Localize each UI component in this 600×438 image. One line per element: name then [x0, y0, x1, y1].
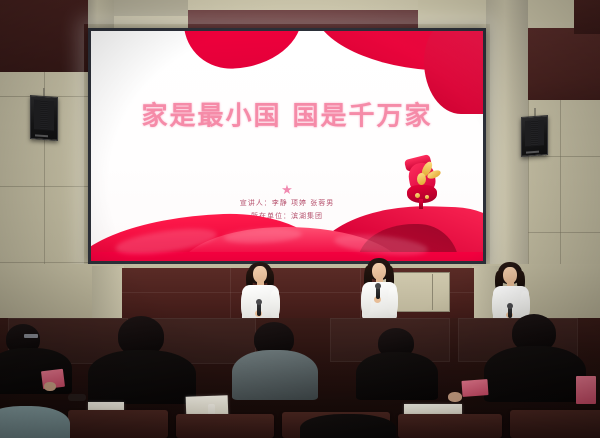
eyeglasses — [24, 334, 38, 338]
ornament-gold-detail — [415, 193, 420, 198]
audience-member-shoulders — [88, 350, 196, 404]
presenter-arm — [361, 287, 371, 315]
microphone-head — [375, 283, 381, 289]
stage-pillar-left — [92, 266, 124, 324]
audience-member-shoulders — [484, 346, 586, 402]
audience-hand — [448, 392, 462, 402]
bench-back — [176, 414, 274, 438]
presenter-arm — [241, 290, 251, 318]
red-card — [461, 379, 488, 397]
ornament-gold-detail — [425, 195, 429, 199]
microphone-head — [256, 299, 262, 305]
ornament-gold-detail — [417, 173, 426, 185]
ceiling-strip-left — [108, 0, 188, 16]
wall-speaker-right — [521, 115, 548, 157]
bench-back — [510, 410, 600, 438]
speaker-brand-mark — [526, 151, 539, 154]
presenter-arm — [270, 290, 280, 318]
audience-hand — [44, 382, 56, 391]
stage-door-seam — [432, 274, 433, 310]
speaker-grille — [525, 119, 544, 146]
speaker-grille — [34, 99, 54, 130]
audience-member-front — [0, 406, 70, 438]
red-card — [576, 376, 596, 404]
audience-member-shoulders — [356, 352, 438, 400]
audience-member-shoulders — [232, 350, 318, 400]
presenter-arm — [492, 291, 502, 319]
wall-speaker-left — [30, 95, 58, 141]
speaker-brand-mark — [35, 134, 48, 137]
microphone-head — [507, 303, 513, 309]
bench-back — [398, 414, 502, 438]
red-star-icon: ★ — [281, 183, 293, 196]
presentation-slide: 家是最小国 国是千万家 ★ 宣讲人：李静 项婷 张蓉男 所在单位：滨湖集团 — [91, 31, 483, 261]
ceiling-wood-panel-corner — [574, 0, 600, 34]
red-ribbon-shape — [184, 31, 304, 71]
photo-scene: 家是最小国 国是千万家 ★ 宣讲人：李静 项婷 张蓉男 所在单位：滨湖集团 — [0, 0, 600, 438]
bench-back — [68, 410, 168, 438]
ornament-stand — [419, 199, 423, 209]
ceiling-wood-panel-right — [527, 28, 600, 100]
slide-title: 家是最小国 国是千万家 — [91, 95, 483, 132]
eyeglasses-case — [68, 394, 86, 401]
audience-member-front — [300, 414, 396, 438]
audience-foreground — [0, 318, 600, 438]
presenter-arm — [388, 287, 398, 315]
stage-panel-seam — [230, 268, 231, 324]
gold-red-ornament-illustration — [397, 155, 449, 211]
projection-screen: 家是最小国 国是千万家 ★ 宣讲人：李静 项婷 张蓉男 所在单位：滨湖集团 — [88, 28, 486, 264]
